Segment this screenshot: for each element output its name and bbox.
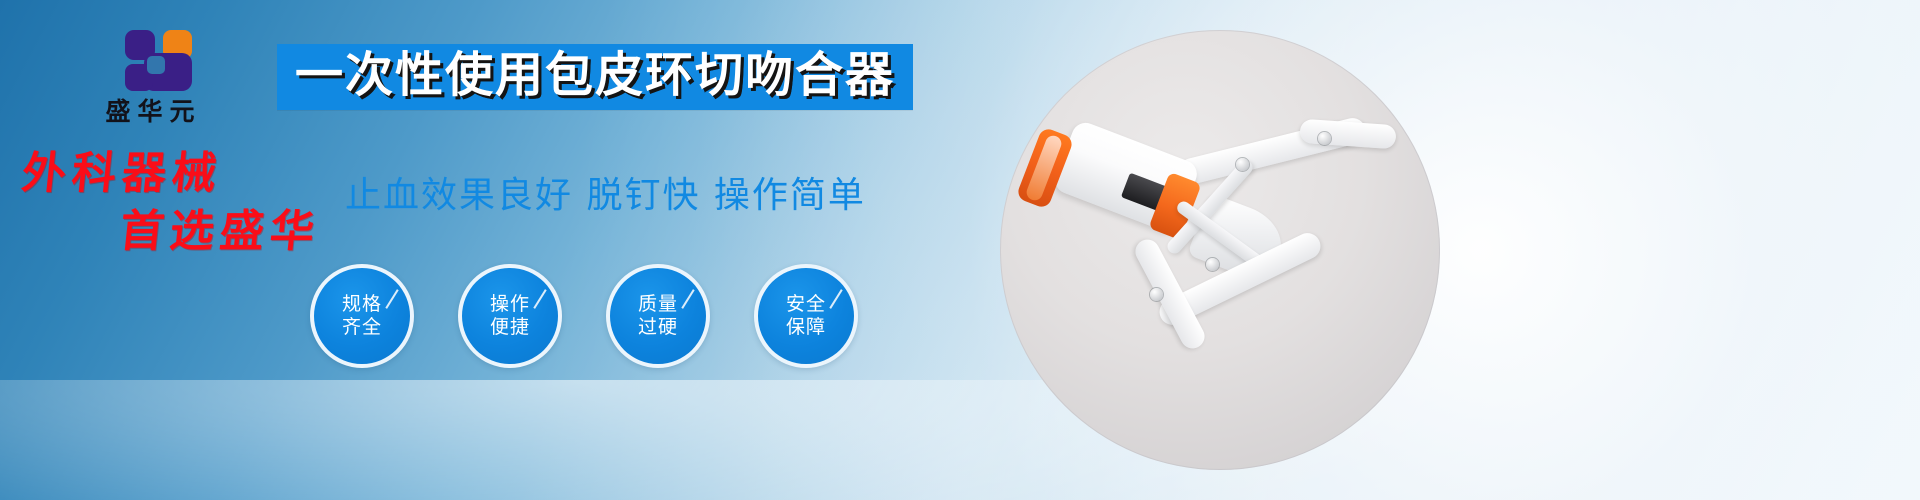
bottom-glow-overlay [0, 380, 1920, 500]
product-image [1000, 30, 1440, 470]
badge-line-1: 操作 [490, 293, 530, 316]
badge-slash-icon [533, 289, 546, 309]
brand-name: 盛华元 [65, 98, 235, 126]
product-pivot [1206, 258, 1219, 271]
product-pivot [1318, 132, 1331, 145]
logo-blocks-icon [111, 28, 189, 94]
badge-line-1: 质量 [638, 293, 678, 316]
calligraphy-line-2: 首选盛华 [118, 210, 323, 254]
product-pivot [1236, 158, 1249, 171]
badge-line-1: 安全 [786, 293, 826, 316]
badge-slash-icon [681, 289, 694, 309]
logo-notch [147, 56, 165, 74]
badge-line-1: 规格 [342, 293, 382, 316]
badge-line-2: 齐全 [342, 316, 382, 339]
badge-line-2: 便捷 [490, 316, 530, 339]
calligraphy-line-1: 外科器械 [20, 152, 323, 196]
feature-badge[interactable]: 操作 便捷 [458, 264, 562, 368]
subheadline-text: 止血效果良好 脱钉快 操作简单 [345, 166, 866, 218]
promotional-banner: 盛华元 一次性使用包皮环切吻合器 外科器械 首选盛华 止血效果良好 脱钉快 操作… [0, 0, 1920, 500]
feature-badge[interactable]: 安全 保障 [754, 264, 858, 368]
badge-slash-icon [385, 289, 398, 309]
feature-badge[interactable]: 规格 齐全 [310, 264, 414, 368]
badge-line-2: 保障 [786, 316, 826, 339]
calligraphy-slogan: 外科器械 首选盛华 [22, 152, 320, 254]
headline-text: 一次性使用包皮环切吻合器 [295, 50, 895, 100]
product-pivot [1150, 288, 1163, 301]
feature-badge-list: 规格 齐全 操作 便捷 质量 过硬 安全 保障 [310, 264, 858, 368]
headline-bar: 一次性使用包皮环切吻合器 [277, 44, 913, 110]
feature-badge[interactable]: 质量 过硬 [606, 264, 710, 368]
brand-logo: 盛华元 [65, 28, 235, 126]
badge-line-2: 过硬 [638, 316, 678, 339]
badge-slash-icon [829, 289, 842, 309]
